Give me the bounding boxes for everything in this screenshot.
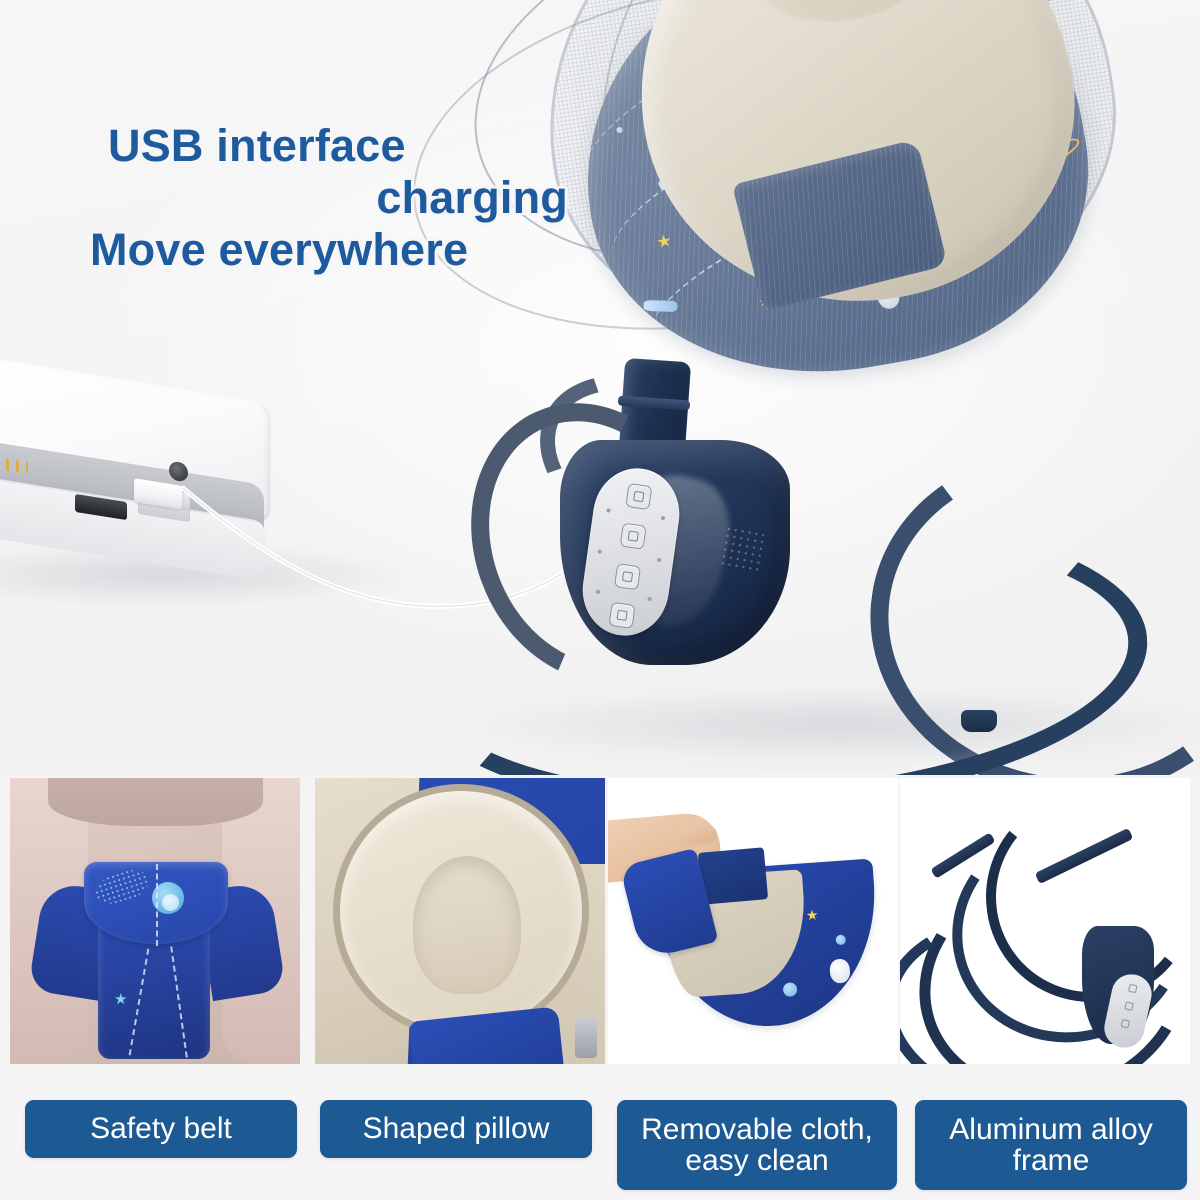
feature-thumbnail-aluminum-frame[interactable] — [900, 778, 1190, 1064]
caption-removable-cloth[interactable]: Removable cloth, easy clean — [617, 1100, 897, 1190]
caption-shaped-pillow[interactable]: Shaped pillow — [320, 1100, 592, 1158]
shaped-pillow-photo — [315, 778, 605, 1064]
caption-safety-belt[interactable]: Safety belt — [25, 1100, 297, 1158]
finger — [676, 825, 717, 845]
feature-caption-row: Safety belt Shaped pillow Removable clot… — [0, 1080, 1200, 1200]
panel-button-icon — [1128, 984, 1137, 993]
product-marketing-image: ★ ★ — [0, 0, 1200, 1200]
caption-aluminum-frame[interactable]: Aluminum alloy frame — [915, 1100, 1187, 1190]
feature-thumbnail-shaped-pillow[interactable] — [315, 778, 605, 1064]
headline-line-1: USB interface — [90, 120, 590, 172]
panel-button-icon — [1124, 1001, 1133, 1010]
moon-highlight-icon — [162, 894, 179, 911]
hero-photo: ★ ★ — [0, 0, 1200, 775]
removable-cloth-photo: ★ ★ — [608, 778, 898, 1064]
headline-line-3: Move everywhere — [90, 224, 590, 276]
star-icon: ★ — [805, 906, 819, 924]
aluminum-frame-photo — [900, 778, 1190, 1064]
feature-thumbnail-safety-belt[interactable]: ★ — [10, 778, 300, 1064]
planet-dot-icon — [835, 935, 846, 946]
headline-block: USB interface charging Move everywhere — [90, 120, 590, 277]
star-icon: ★ — [655, 232, 673, 251]
rocket-icon — [644, 300, 678, 312]
frame-foot — [961, 710, 997, 732]
panel-button-icon — [1121, 1019, 1130, 1028]
astronaut-icon — [829, 958, 851, 983]
star-icon: ★ — [114, 990, 127, 1008]
headline-line-2: charging — [90, 172, 590, 224]
safety-belt-photo: ★ — [10, 778, 300, 1064]
baby-electric-swing: ★ ★ — [440, 0, 1200, 770]
buckle-clip — [575, 1018, 597, 1058]
seat-backrest — [48, 778, 263, 826]
pillow-inner-hollow — [413, 856, 521, 994]
feature-thumbnail-removable-cloth[interactable]: ★ ★ — [608, 778, 898, 1064]
feature-thumbnail-row: ★ ★ — [0, 775, 1200, 1067]
planet-dot-icon — [783, 982, 798, 997]
cover-print-tab — [698, 847, 768, 905]
print-dashed-line — [156, 864, 158, 946]
